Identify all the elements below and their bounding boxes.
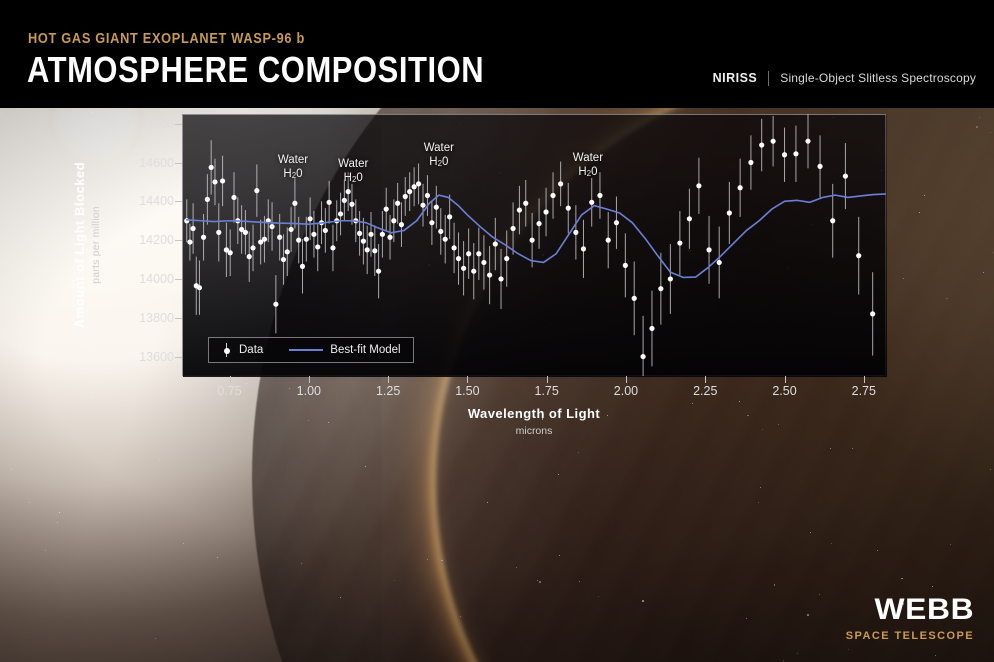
- x-tick-label: 2.00: [614, 384, 638, 398]
- x-tick-label: 1.25: [376, 384, 400, 398]
- star: [830, 448, 831, 449]
- x-tick-mark: [864, 376, 865, 383]
- data-point: [254, 188, 259, 193]
- best-fit-model-line: [187, 194, 886, 277]
- data-point: [523, 201, 528, 206]
- data-point: [597, 193, 602, 198]
- data-point: [696, 183, 701, 188]
- data-point: [323, 228, 328, 233]
- data-point: [184, 218, 189, 223]
- data-point: [668, 276, 673, 281]
- star: [990, 132, 991, 133]
- data-point: [212, 179, 217, 184]
- data-point: [640, 354, 645, 359]
- data-point: [566, 206, 571, 211]
- data-point: [687, 216, 692, 221]
- webb-logo-name: WEBB: [838, 595, 974, 625]
- data-point: [187, 239, 192, 244]
- data-point: [399, 222, 404, 227]
- y-tick-label: 14600: [139, 156, 174, 170]
- data-point: [338, 211, 343, 216]
- data-point: [228, 250, 233, 255]
- water-annotation: WaterH20: [573, 151, 603, 180]
- data-point: [304, 237, 309, 242]
- water-annotation-formula: H20: [573, 165, 603, 179]
- data-point: [456, 256, 461, 261]
- x-axis-title-units: microns: [468, 425, 600, 437]
- data-point: [285, 249, 290, 254]
- legend-item-model: Best-fit Model: [289, 344, 400, 356]
- instrument-info: NIRISS Single-Object Slitless Spectrosco…: [713, 68, 976, 88]
- water-annotation: WaterH20: [424, 141, 454, 170]
- data-point: [361, 239, 366, 244]
- data-point: [403, 194, 408, 199]
- data-point: [308, 216, 313, 221]
- data-point: [476, 251, 481, 256]
- data-point: [632, 296, 637, 301]
- data-point: [412, 184, 417, 189]
- data-point: [447, 214, 452, 219]
- x-tick-label: 2.25: [693, 384, 717, 398]
- data-point: [487, 272, 492, 277]
- star: [642, 600, 644, 602]
- y-tick-label: 14000: [139, 272, 174, 286]
- star: [119, 363, 120, 364]
- data-point: [805, 139, 810, 144]
- data-point: [191, 226, 196, 231]
- data-point: [247, 254, 252, 259]
- y-tick-mark: [175, 163, 182, 164]
- data-point: [262, 237, 267, 242]
- x-tick-mark: [626, 376, 627, 383]
- star: [760, 487, 761, 488]
- x-tick-mark: [467, 376, 468, 383]
- data-point: [771, 139, 776, 144]
- x-axis-title-main: Wavelength of Light: [468, 406, 600, 421]
- data-point: [623, 263, 628, 268]
- data-point: [327, 200, 332, 205]
- star: [578, 452, 579, 453]
- y-tick-mark: [175, 357, 182, 358]
- data-point: [395, 201, 400, 206]
- data-point: [530, 238, 535, 243]
- data-point: [216, 230, 221, 235]
- data-point: [197, 285, 202, 290]
- y-tick-label: 14400: [139, 194, 174, 208]
- x-tick-label: 2.75: [852, 384, 876, 398]
- data-point: [384, 207, 389, 212]
- header-bar: HOT GAS GIANT EXOPLANET WASP-96 b ATMOSP…: [0, 0, 994, 108]
- data-point: [748, 160, 753, 165]
- y-axis-title-units: parts per million: [90, 162, 102, 329]
- star: [932, 586, 933, 587]
- data-point: [209, 165, 214, 170]
- data-point: [269, 224, 274, 229]
- data-point: [407, 189, 412, 194]
- data-point: [420, 203, 425, 208]
- data-point: [376, 269, 381, 274]
- water-annotation: WaterH20: [338, 157, 368, 186]
- star: [919, 212, 920, 213]
- star: [692, 403, 693, 404]
- webb-logo-subtitle: SPACE TELESCOPE: [846, 630, 974, 642]
- data-point: [273, 302, 278, 307]
- x-tick-mark: [705, 376, 706, 383]
- data-point: [380, 232, 385, 237]
- data-point: [727, 210, 732, 215]
- x-tick-label: 0.75: [217, 384, 241, 398]
- star: [539, 581, 541, 583]
- data-point: [504, 256, 509, 261]
- star: [174, 287, 176, 289]
- star: [831, 543, 832, 544]
- data-point: [443, 237, 448, 242]
- data-point: [510, 226, 515, 231]
- data-point: [461, 266, 466, 271]
- y-tick-mark: [175, 318, 182, 319]
- data-point: [250, 245, 255, 250]
- kicker-text: HOT GAS GIANT EXOPLANET WASP-96 b: [28, 31, 305, 47]
- star: [516, 567, 517, 568]
- star: [217, 557, 218, 558]
- star: [848, 649, 849, 650]
- water-annotation: WaterH20: [278, 153, 308, 182]
- webb-logo: WEBB SPACE TELESCOPE: [846, 595, 974, 642]
- data-point: [793, 151, 798, 156]
- legend-label-model: Best-fit Model: [330, 344, 400, 356]
- star: [537, 580, 538, 581]
- star: [155, 638, 156, 639]
- data-point: [817, 164, 822, 169]
- data-point: [330, 245, 335, 250]
- data-point: [493, 241, 498, 246]
- data-point: [429, 220, 434, 225]
- star: [1, 113, 2, 114]
- data-point: [425, 193, 430, 198]
- data-point: [466, 251, 471, 256]
- data-point: [543, 209, 548, 214]
- data-point: [387, 235, 392, 240]
- divider: [768, 71, 769, 86]
- water-annotation-formula: H20: [338, 171, 368, 185]
- y-tick-mark: [175, 240, 182, 241]
- legend-item-data: Data: [221, 343, 263, 357]
- data-point: [277, 235, 282, 240]
- star: [523, 438, 524, 439]
- star: [976, 126, 978, 128]
- data-point: [581, 246, 586, 251]
- data-point: [498, 276, 503, 281]
- instrument-mode: Single-Object Slitless Spectroscopy: [780, 71, 976, 85]
- star: [903, 278, 904, 279]
- y-tick-label: 14800: [139, 117, 174, 131]
- x-tick-mark: [388, 376, 389, 383]
- data-point: [416, 181, 421, 186]
- data-point: [717, 260, 722, 265]
- star: [51, 324, 53, 326]
- y-tick-mark: [175, 279, 182, 280]
- star: [797, 653, 798, 654]
- data-point: [300, 264, 305, 269]
- star: [365, 466, 366, 467]
- data-point: [573, 230, 578, 235]
- y-tick-label: 13600: [139, 350, 174, 364]
- data-point: [346, 189, 351, 194]
- data-point: [558, 181, 563, 186]
- star: [57, 522, 58, 523]
- y-axis-title: Amount of Light Blocked parts per millio…: [72, 162, 102, 329]
- data-point: [738, 185, 743, 190]
- data-point: [368, 232, 373, 237]
- water-annotation-text: Water: [278, 153, 308, 167]
- x-tick-mark: [309, 376, 310, 383]
- data-point-icon: [221, 343, 232, 357]
- data-point: [481, 260, 486, 265]
- data-point: [589, 200, 594, 205]
- data-point: [220, 178, 225, 183]
- data-point: [843, 174, 848, 179]
- data-point: [870, 311, 875, 316]
- star: [877, 550, 878, 551]
- star: [135, 231, 136, 232]
- x-tick-mark: [230, 376, 231, 383]
- data-point: [706, 247, 711, 252]
- data-point: [759, 142, 764, 147]
- data-point: [434, 205, 439, 210]
- data-point: [288, 227, 293, 232]
- water-annotation-formula: H20: [424, 155, 454, 169]
- x-tick-mark: [547, 376, 548, 383]
- data-point: [281, 257, 286, 262]
- data-point: [311, 232, 316, 237]
- data-point: [649, 326, 654, 331]
- water-annotation-formula: H20: [278, 167, 308, 181]
- star: [924, 195, 925, 196]
- data-point: [231, 195, 236, 200]
- y-tick-label: 14200: [139, 233, 174, 247]
- data-point: [365, 247, 370, 252]
- x-tick-label: 2.50: [772, 384, 796, 398]
- spectrum-chart: 13600138001400014200144001460014800 0.75…: [182, 114, 886, 376]
- star: [59, 512, 60, 513]
- star: [810, 532, 811, 533]
- data-point: [451, 245, 456, 250]
- data-point: [201, 235, 206, 240]
- instrument-name: NIRISS: [713, 71, 758, 85]
- data-point: [856, 253, 861, 258]
- data-point: [391, 218, 396, 223]
- star: [45, 550, 46, 551]
- data-point: [517, 207, 522, 212]
- star: [935, 655, 936, 656]
- y-tick-label: 13800: [139, 311, 174, 325]
- data-point: [205, 197, 210, 202]
- data-point: [292, 201, 297, 206]
- star: [308, 420, 309, 421]
- x-tick-label: 1.75: [535, 384, 559, 398]
- star: [807, 614, 809, 616]
- data-point: [677, 240, 682, 245]
- data-point: [782, 152, 787, 157]
- water-annotation-text: Water: [338, 157, 368, 171]
- water-annotation-text: Water: [573, 151, 603, 165]
- water-annotation-text: Water: [424, 141, 454, 155]
- star: [460, 616, 461, 617]
- legend-label-data: Data: [239, 344, 263, 356]
- y-tick-mark: [175, 124, 182, 125]
- model-line-icon: [289, 349, 323, 351]
- x-tick-label: 1.00: [297, 384, 321, 398]
- data-point: [830, 218, 835, 223]
- data-point: [471, 269, 476, 274]
- y-tick-mark: [175, 201, 182, 202]
- data-point: [372, 248, 377, 253]
- star: [762, 429, 763, 430]
- data-point: [438, 229, 443, 234]
- data-point: [342, 198, 347, 203]
- data-point: [296, 238, 301, 243]
- data-point: [243, 230, 248, 235]
- data-point: [606, 238, 611, 243]
- star: [487, 502, 488, 503]
- x-tick-label: 1.50: [455, 384, 479, 398]
- data-point: [550, 193, 555, 198]
- data-point: [536, 221, 541, 226]
- page-title: ATMOSPHERE COMPOSITION: [27, 52, 484, 88]
- data-point: [357, 231, 362, 236]
- chart-legend: Data Best-fit Model: [208, 337, 414, 363]
- x-axis-title: Wavelength of Light microns: [468, 406, 600, 437]
- x-tick-mark: [785, 376, 786, 383]
- data-point: [349, 202, 354, 207]
- data-point: [315, 244, 320, 249]
- infographic-root: HOT GAS GIANT EXOPLANET WASP-96 b ATMOSP…: [0, 0, 994, 662]
- data-point: [658, 286, 663, 291]
- data-point: [614, 220, 619, 225]
- y-axis-title-main: Amount of Light Blocked: [72, 162, 87, 329]
